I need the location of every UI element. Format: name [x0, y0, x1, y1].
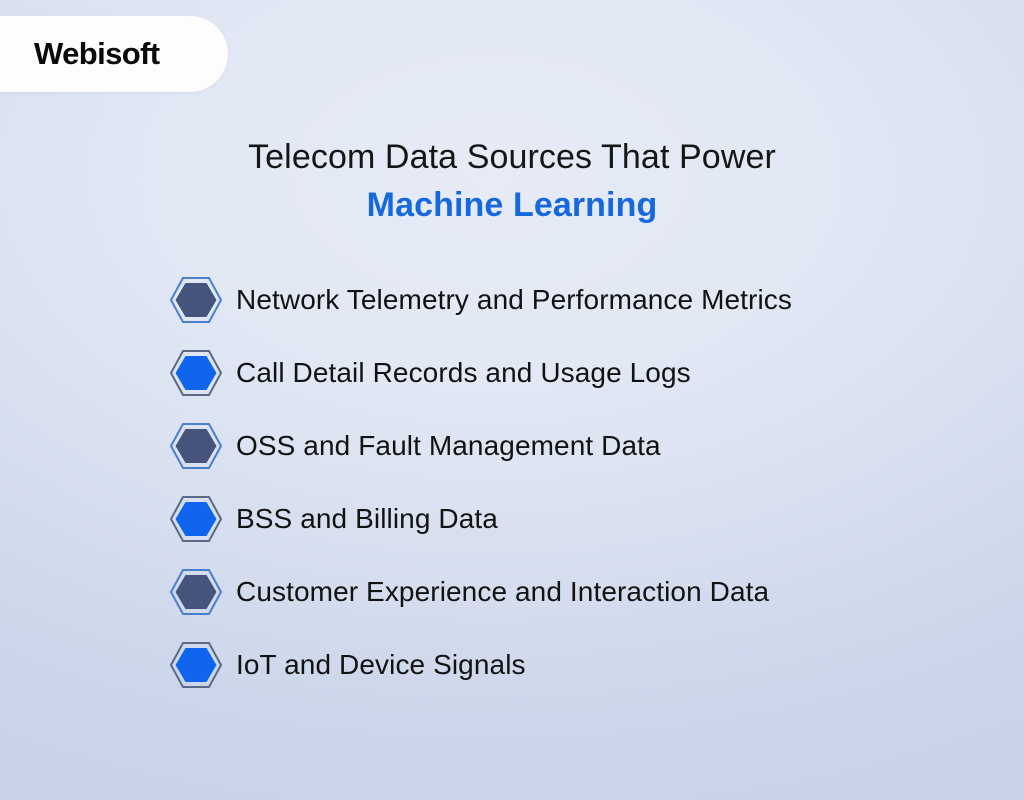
list-item-label: IoT and Device Signals — [236, 649, 526, 681]
page-title-line-2: Machine Learning — [0, 181, 1024, 229]
list-item: Call Detail Records and Usage Logs — [168, 345, 968, 401]
list-item-label: Call Detail Records and Usage Logs — [236, 357, 691, 389]
hexagon-icon — [168, 493, 224, 545]
page-title-line-1: Telecom Data Sources That Power — [0, 133, 1024, 181]
hexagon-icon — [168, 639, 224, 691]
brand-logo-text: Webisoft — [34, 36, 160, 72]
page-title: Telecom Data Sources That Power Machine … — [0, 133, 1024, 229]
list-item: BSS and Billing Data — [168, 491, 968, 547]
list-item-label: BSS and Billing Data — [236, 503, 498, 535]
list-item-label: Network Telemetry and Performance Metric… — [236, 284, 792, 316]
data-sources-list: Network Telemetry and Performance Metric… — [168, 272, 968, 710]
brand-logo-badge: Webisoft — [0, 16, 228, 92]
slide-canvas: Webisoft Telecom Data Sources That Power… — [0, 0, 1024, 800]
hexagon-icon — [168, 420, 224, 472]
list-item: Customer Experience and Interaction Data — [168, 564, 968, 620]
list-item: Network Telemetry and Performance Metric… — [168, 272, 968, 328]
list-item: IoT and Device Signals — [168, 637, 968, 693]
list-item-label: OSS and Fault Management Data — [236, 430, 661, 462]
list-item: OSS and Fault Management Data — [168, 418, 968, 474]
list-item-label: Customer Experience and Interaction Data — [236, 576, 769, 608]
hexagon-icon — [168, 566, 224, 618]
hexagon-icon — [168, 274, 224, 326]
hexagon-icon — [168, 347, 224, 399]
